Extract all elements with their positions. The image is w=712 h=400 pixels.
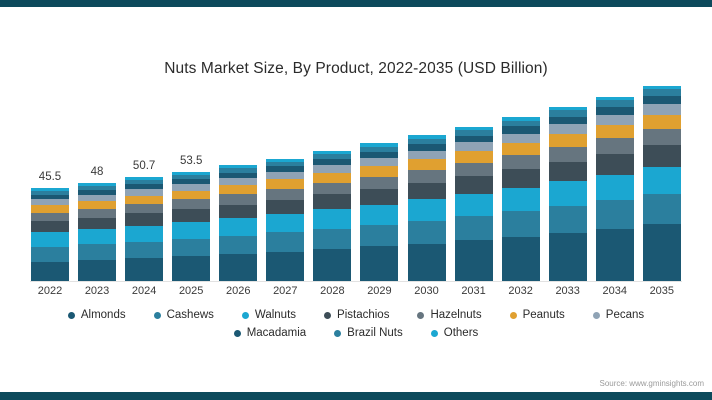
x-tick-label: 2025 [171, 285, 211, 297]
bar-segment[interactable] [455, 240, 493, 281]
bar-column[interactable] [218, 85, 258, 281]
bar-segment[interactable] [549, 124, 587, 134]
bar-segment[interactable] [455, 194, 493, 216]
bar-segment[interactable] [643, 104, 681, 115]
bar-segment[interactable] [219, 254, 257, 281]
bar-segment[interactable] [313, 173, 351, 183]
stacked-bar[interactable] [454, 125, 494, 281]
stacked-bar[interactable] [77, 182, 117, 281]
bar-segment[interactable] [360, 246, 398, 281]
bar-segment[interactable] [502, 134, 540, 143]
x-tick-label: 2026 [218, 285, 258, 297]
bar-segment[interactable] [360, 225, 398, 247]
bar-segment[interactable] [313, 209, 351, 228]
bar-column[interactable] [595, 85, 635, 281]
stacked-bar[interactable] [30, 187, 70, 281]
bar-segment[interactable] [313, 165, 351, 173]
bar-segment[interactable] [408, 221, 446, 244]
bar-segment[interactable] [455, 163, 493, 176]
bar-segment[interactable] [360, 177, 398, 189]
legend-item-label: Hazelnuts [430, 309, 481, 321]
stacked-bar[interactable] [218, 164, 258, 281]
bar-segment[interactable] [408, 183, 446, 200]
top-border-bar [0, 0, 712, 7]
stacked-bar[interactable] [265, 157, 305, 281]
bar-segment[interactable] [502, 211, 540, 237]
bar-segment[interactable] [596, 200, 634, 229]
stacked-bar[interactable] [359, 142, 399, 281]
legend-item-label: Walnuts [255, 309, 296, 321]
legend-swatch-icon [334, 330, 341, 337]
bar-value-label: 48 [91, 166, 104, 178]
legend-row: MacadamiaBrazil NutsOthers [220, 327, 493, 339]
bar-segment[interactable] [219, 185, 257, 194]
bar-segment[interactable] [219, 205, 257, 219]
bar-segment[interactable] [219, 218, 257, 235]
bar-group: 45.54850.753.5 [30, 85, 682, 281]
legend-item-label: Pecans [606, 309, 644, 321]
legend-item-label: Pistachios [337, 309, 389, 321]
legend-item-label: Almonds [81, 309, 126, 321]
bar-segment[interactable] [78, 209, 116, 218]
bar-segment[interactable] [643, 224, 681, 281]
stacked-bar[interactable] [124, 176, 164, 281]
bar-segment[interactable] [266, 214, 304, 232]
bar-segment[interactable] [502, 169, 540, 188]
bar-segment[interactable] [502, 188, 540, 211]
bar-segment[interactable] [408, 170, 446, 183]
bar-segment[interactable] [172, 184, 210, 191]
bar-segment[interactable] [266, 172, 304, 179]
bar-segment[interactable] [313, 229, 351, 250]
bar-segment[interactable] [266, 179, 304, 188]
bar-segment[interactable] [549, 134, 587, 147]
bar-segment[interactable] [549, 233, 587, 281]
legend-item-label: Cashews [167, 309, 214, 321]
legend-item-peanuts[interactable]: Peanuts [510, 309, 565, 321]
bar-segment[interactable] [31, 213, 69, 222]
bar-segment[interactable] [266, 252, 304, 281]
bar-segment[interactable] [549, 117, 587, 125]
x-tick-label: 2024 [124, 285, 164, 297]
bar-segment[interactable] [172, 191, 210, 200]
bar-column[interactable]: 48 [77, 85, 117, 281]
x-tick-label: 2032 [501, 285, 541, 297]
bar-segment[interactable] [596, 175, 634, 201]
bar-column[interactable] [359, 85, 399, 281]
bar-segment[interactable] [31, 247, 69, 262]
bar-segment[interactable] [31, 232, 69, 246]
bar-segment[interactable] [172, 222, 210, 239]
bar-segment[interactable] [78, 244, 116, 260]
legend-swatch-icon [510, 312, 517, 319]
bar-segment[interactable] [360, 189, 398, 205]
bar-segment[interactable] [78, 260, 116, 281]
x-tick-label: 2033 [548, 285, 588, 297]
legend-item-pecans[interactable]: Pecans [593, 309, 644, 321]
bar-segment[interactable] [360, 166, 398, 176]
bar-column[interactable] [454, 85, 494, 281]
legend-swatch-icon [242, 312, 249, 319]
legend-item-brazil-nuts[interactable]: Brazil Nuts [334, 327, 403, 339]
bar-segment[interactable] [502, 126, 540, 133]
bar-segment[interactable] [596, 229, 634, 281]
bar-segment[interactable] [219, 194, 257, 204]
bar-value-label: 45.5 [39, 171, 61, 183]
stacked-bar[interactable] [171, 171, 211, 281]
bar-segment[interactable] [643, 167, 681, 194]
legend-item-others[interactable]: Others [431, 327, 479, 339]
stacked-bar[interactable] [501, 116, 541, 281]
bar-segment[interactable] [408, 244, 446, 281]
bottom-border-bar [0, 392, 712, 400]
legend-item-hazelnuts[interactable]: Hazelnuts [417, 309, 481, 321]
legend-swatch-icon [324, 312, 331, 319]
bar-segment[interactable] [596, 154, 634, 175]
bar-segment[interactable] [78, 218, 116, 230]
x-tick-label: 2031 [454, 285, 494, 297]
bar-column[interactable] [501, 85, 541, 281]
bar-segment[interactable] [219, 178, 257, 185]
bar-value-label: 50.7 [133, 160, 155, 172]
bar-column[interactable] [548, 85, 588, 281]
bar-segment[interactable] [31, 262, 69, 281]
bar-segment[interactable] [172, 199, 210, 209]
chart-title: Nuts Market Size, By Product, 2022-2035 … [0, 60, 712, 78]
legend-swatch-icon [154, 312, 161, 319]
bar-segment[interactable] [549, 162, 587, 182]
plot-area: 45.54850.753.5 [30, 85, 682, 281]
bar-segment[interactable] [78, 229, 116, 244]
legend-item-walnuts[interactable]: Walnuts [242, 309, 296, 321]
bar-segment[interactable] [549, 147, 587, 162]
legend-swatch-icon [431, 330, 438, 337]
bar-segment[interactable] [455, 142, 493, 151]
bar-column[interactable]: 45.5 [30, 85, 70, 281]
bar-segment[interactable] [408, 159, 446, 170]
legend-item-label: Peanuts [523, 309, 565, 321]
x-tick-label: 2027 [265, 285, 305, 297]
bar-segment[interactable] [596, 125, 634, 138]
bar-segment[interactable] [125, 226, 163, 242]
stacked-bar[interactable] [407, 134, 447, 281]
bar-segment[interactable] [125, 213, 163, 225]
bar-segment[interactable] [643, 194, 681, 224]
stacked-bar[interactable] [312, 150, 352, 281]
legend-item-cashews[interactable]: Cashews [154, 309, 214, 321]
legend-swatch-icon [417, 312, 424, 319]
bar-segment[interactable] [502, 143, 540, 155]
legend-swatch-icon [234, 330, 241, 337]
bar-column[interactable] [312, 85, 352, 281]
stacked-bar[interactable] [548, 106, 588, 281]
chart-frame: Nuts Market Size, By Product, 2022-2035 … [0, 0, 712, 400]
bar-column[interactable] [407, 85, 447, 281]
bar-segment[interactable] [596, 138, 634, 153]
bar-segment[interactable] [31, 221, 69, 232]
bar-segment[interactable] [125, 258, 163, 281]
x-tick-label: 2022 [30, 285, 70, 297]
chart-canvas: Nuts Market Size, By Product, 2022-2035 … [0, 7, 712, 392]
bar-segment[interactable] [125, 242, 163, 259]
legend-swatch-icon [593, 312, 600, 319]
bar-column[interactable] [265, 85, 305, 281]
bar-segment[interactable] [266, 200, 304, 215]
legend-item-label: Macadamia [247, 327, 306, 339]
bar-segment[interactable] [455, 176, 493, 194]
bar-column[interactable] [642, 85, 682, 281]
chart-legend: AlmondsCashewsWalnutsPistachiosHazelnuts… [0, 309, 712, 339]
legend-item-macadamia[interactable]: Macadamia [234, 327, 306, 339]
legend-item-label: Brazil Nuts [347, 327, 403, 339]
bar-segment[interactable] [549, 206, 587, 233]
legend-row: AlmondsCashewsWalnutsPistachiosHazelnuts… [54, 309, 658, 321]
stacked-bar[interactable] [595, 96, 635, 281]
source-attribution: Source: www.gminsights.com [600, 379, 704, 388]
bar-segment[interactable] [455, 151, 493, 162]
bar-segment[interactable] [172, 239, 210, 257]
bar-segment[interactable] [502, 155, 540, 169]
bar-column[interactable]: 53.5 [171, 85, 211, 281]
bar-segment[interactable] [219, 236, 257, 254]
bar-segment[interactable] [408, 151, 446, 160]
x-tick-label: 2028 [312, 285, 352, 297]
bar-value-label: 53.5 [180, 155, 202, 167]
bar-segment[interactable] [549, 181, 587, 206]
bar-segment[interactable] [266, 232, 304, 251]
bar-segment[interactable] [502, 237, 540, 281]
x-axis-line [30, 281, 682, 282]
bar-segment[interactable] [313, 194, 351, 209]
bar-column[interactable]: 50.7 [124, 85, 164, 281]
bar-segment[interactable] [596, 107, 634, 115]
bar-segment[interactable] [172, 256, 210, 281]
bar-segment[interactable] [408, 199, 446, 220]
x-axis-tick-labels: 2022202320242025202620272028202920302031… [30, 285, 682, 297]
x-tick-label: 2034 [595, 285, 635, 297]
bar-segment[interactable] [125, 204, 163, 213]
legend-item-label: Others [444, 327, 479, 339]
bar-segment[interactable] [360, 158, 398, 166]
x-tick-label: 2029 [359, 285, 399, 297]
bar-segment[interactable] [266, 189, 304, 200]
bar-segment[interactable] [643, 145, 681, 167]
stacked-bar[interactable] [642, 85, 682, 281]
bar-segment[interactable] [172, 209, 210, 222]
bar-segment[interactable] [78, 201, 116, 209]
bar-segment[interactable] [643, 89, 681, 96]
bar-segment[interactable] [596, 115, 634, 125]
x-tick-label: 2030 [407, 285, 447, 297]
x-tick-label: 2035 [642, 285, 682, 297]
bar-segment[interactable] [125, 196, 163, 204]
legend-item-pistachios[interactable]: Pistachios [324, 309, 389, 321]
bar-segment[interactable] [360, 205, 398, 225]
bar-segment[interactable] [455, 216, 493, 240]
bar-segment[interactable] [643, 96, 681, 104]
bar-segment[interactable] [313, 249, 351, 281]
bar-segment[interactable] [31, 205, 69, 212]
legend-swatch-icon [68, 312, 75, 319]
bar-segment[interactable] [643, 115, 681, 129]
legend-item-almonds[interactable]: Almonds [68, 309, 126, 321]
x-tick-label: 2023 [77, 285, 117, 297]
bar-segment[interactable] [455, 136, 493, 143]
bar-segment[interactable] [313, 183, 351, 194]
bar-segment[interactable] [643, 129, 681, 145]
